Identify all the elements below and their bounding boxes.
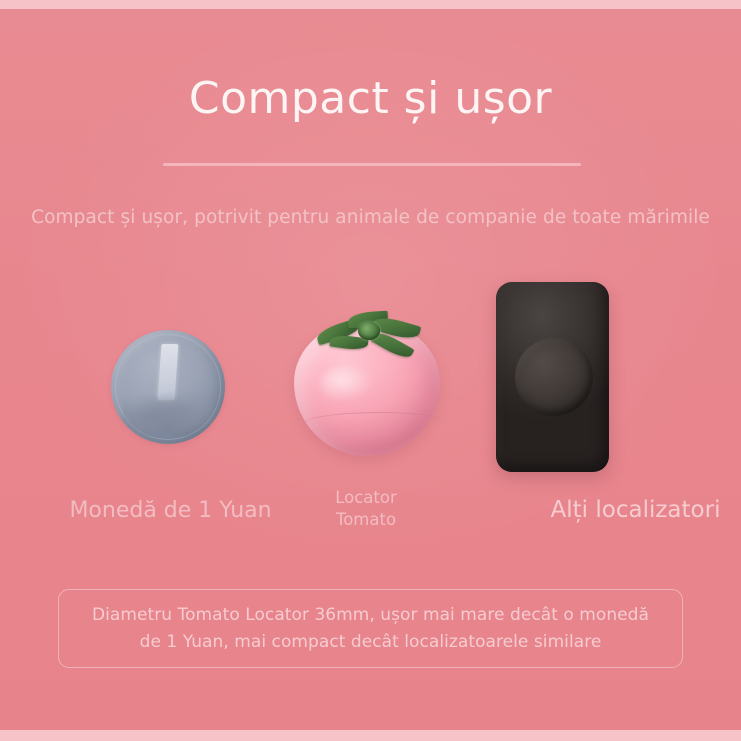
tomato-stem-icon <box>358 322 380 340</box>
label-other-locators: Alți localizatori <box>398 495 741 526</box>
caption-line1: Diametru Tomato Locator 36mm, ușor mai m… <box>92 605 649 625</box>
black-locator-icon <box>496 282 609 472</box>
black-locator-button <box>515 338 593 416</box>
caption-line2: de 1 Yuan, mai compact decât localizatoa… <box>140 632 602 652</box>
coin-rim <box>115 334 221 440</box>
product-item-other-locator <box>496 282 614 478</box>
tomato-highlight <box>320 366 374 402</box>
promo-card: Compact și ușor Compact și ușor, potrivi… <box>0 0 741 741</box>
one-yuan-coin-icon <box>111 330 225 444</box>
product-item-coin <box>103 324 235 444</box>
top-edge-strip <box>0 0 741 9</box>
page-subtitle: Compact și ușor, potrivit pentru animale… <box>0 207 741 228</box>
tomato-seam-line <box>304 411 446 434</box>
product-item-tomato-locator <box>286 294 446 464</box>
caption-text: Diametru Tomato Locator 36mm, ușor mai m… <box>70 602 671 655</box>
caption-box: Diametru Tomato Locator 36mm, ușor mai m… <box>58 589 683 668</box>
page-title: Compact și ușor <box>0 74 741 123</box>
bottom-edge-strip <box>0 730 741 741</box>
title-divider <box>163 163 581 166</box>
label-tomato-line1: Locator <box>335 488 397 507</box>
